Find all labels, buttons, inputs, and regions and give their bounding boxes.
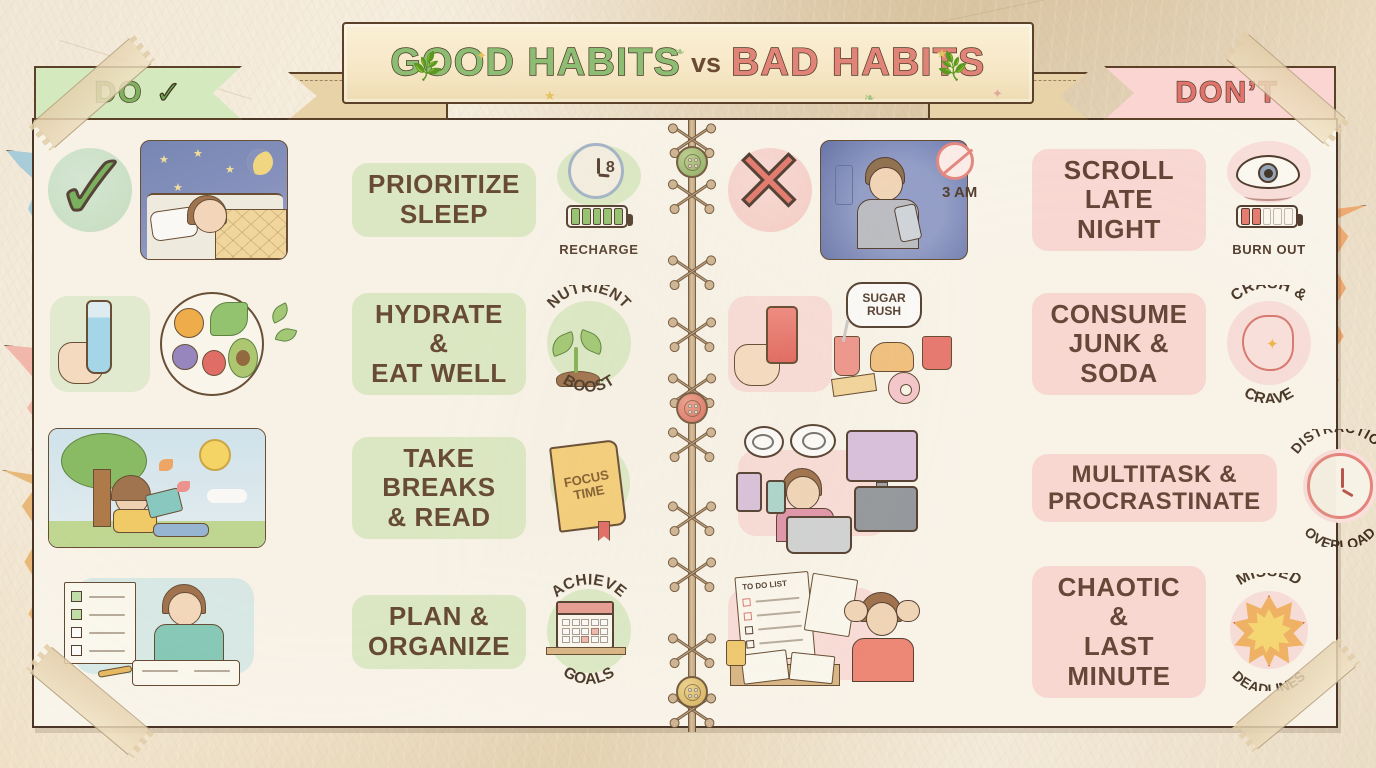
label-plan-organize: PLAN & ORGANIZE [348, 595, 530, 668]
illustration-chaotic-desk: TO DO LIST [724, 568, 1024, 696]
phone-icon [766, 480, 786, 514]
good-row-breaks: TAKE BREAKS & READ FOCUS TIME [44, 416, 644, 560]
cross-mark-icon: ✕ [732, 138, 806, 226]
checklist-note [64, 582, 136, 664]
badge-recharge: 8 RECHARGE [544, 141, 654, 259]
label-scroll-late-night: SCROLL LATE NIGHT [1028, 149, 1210, 252]
label-chaotic-last-minute: CHAOTIC & LAST MINUTE [1028, 566, 1210, 699]
bad-habits-column: ✕ 3 AM SCROLL L [724, 128, 1324, 704]
check-mark-icon: ✓ [156, 75, 182, 111]
divider-button-green [676, 146, 708, 178]
book-icon: FOCUS TIME [549, 439, 627, 533]
label-line-2: ORGANIZE [368, 631, 510, 661]
illustration-multitask [724, 424, 1024, 552]
badge-crash-crave: ✦ CRASH & CRAVE [1214, 285, 1324, 403]
sparkle-icon: ✦ [476, 48, 487, 64]
illustration-junk-food: SUGAR RUSH [724, 280, 1024, 408]
label-prioritize-sleep: PRIORITIZE SLEEP [348, 163, 540, 236]
label-line-1: PLAN & [389, 601, 489, 631]
check-mark-icon: ✓ [54, 142, 131, 234]
star-icon: ★ [544, 88, 556, 104]
bubble-line-1: SUGAR [862, 291, 905, 305]
scene-note-3am: 3 AM [942, 184, 977, 201]
battery-full-icon [566, 205, 628, 228]
good-row-plan: PLAN & ORGANIZE [44, 560, 644, 704]
badge-caption-burn-out: BURN OUT [1214, 242, 1324, 257]
label-line-2: & READ [387, 502, 490, 532]
badge-burn-out: BURN OUT [1214, 141, 1324, 259]
plate-of-food [160, 292, 264, 396]
star-icon: ★ [936, 46, 948, 62]
leaf-icon: ❧ [864, 90, 875, 106]
label-line-2: PROCRASTINATE [1048, 488, 1261, 515]
svg-text:MISSED: MISSED [1234, 573, 1305, 589]
divider-button-red [676, 392, 708, 424]
bad-row-chaotic: TO DO LIST [724, 560, 1324, 704]
second-monitor-icon [854, 486, 918, 532]
label-hydrate-eat-well: HYDRATE & EAT WELL [348, 293, 530, 396]
ribbon-body: GOOD HABITS vs BAD HABITS 🌿 🌿 ✦ ★ ❧ ❧ ★ … [342, 22, 1034, 104]
badge-nutrient-boost: NUTRIENT BOOST [534, 285, 644, 403]
label-line-2: SLEEP [400, 199, 488, 229]
label-line-1: PRIORITIZE [368, 169, 520, 199]
label-take-breaks-read: TAKE BREAKS & READ [348, 437, 530, 540]
label-consume-junk-soda: CONSUME JUNK & SODA [1028, 293, 1210, 396]
label-line-1: TAKE BREAKS [382, 443, 495, 503]
good-row-sleep: ✓ ★ ★ ★ ★ P [44, 128, 644, 272]
badge-focus-time: FOCUS TIME [534, 429, 644, 547]
monitor-icon [846, 430, 918, 482]
svg-text:OVERLOAD: OVERLOAD [1301, 524, 1376, 547]
label-line-1: MULTITASK & [1072, 461, 1238, 488]
label-multitask-procrastinate: MULTITASK & PROCRASTINATE [1028, 454, 1281, 523]
no-phone-clock-icon [936, 142, 974, 180]
illustration-scroll-late-night: ✕ 3 AM [724, 136, 1024, 264]
scene-girl-sleeping: ★ ★ ★ ★ [140, 140, 288, 260]
leaf-icon: ❧ [674, 44, 685, 60]
label-line-2: LAST MINUTE [1067, 631, 1170, 691]
divider-cord [688, 120, 696, 732]
label-line-2: JUNK & SODA [1069, 328, 1169, 388]
illustration-hydrate [44, 280, 344, 408]
svg-text:CRAVE: CRAVE [1241, 384, 1297, 403]
label-line-2: EAT WELL [371, 358, 507, 388]
illustration-reading [44, 424, 344, 552]
badge-achieve-goals: ACHIEVE GOALS [534, 573, 644, 691]
alarm-clock-icon [1307, 453, 1373, 519]
illustration-planning [44, 568, 344, 696]
title-ribbon: GOOD HABITS vs BAD HABITS 🌿 🌿 ✦ ★ ❧ ❧ ★ … [288, 14, 1088, 110]
badge-caption-recharge: RECHARGE [544, 242, 654, 257]
battery-low-icon [1236, 205, 1298, 228]
clock-icon [568, 143, 624, 199]
calendar-icon [556, 601, 614, 649]
badge-distraction-overload: DISTRACTION OVERLOAD [1285, 429, 1376, 547]
label-line-2: LATE NIGHT [1077, 184, 1161, 244]
bubble-line-2: RUSH [867, 304, 901, 318]
bad-row-scroll: ✕ 3 AM SCROLL L [724, 128, 1324, 272]
bad-row-junk: SUGAR RUSH CONSUME JUNK & SODA [724, 272, 1324, 416]
sparkle-icon: ✦ [992, 86, 1003, 102]
label-line-1: SCROLL [1064, 155, 1174, 185]
poster-canvas: ✓ ★ ★ ★ ★ P [0, 0, 1376, 768]
tablet-icon [736, 472, 762, 512]
clock-number: 8 [606, 159, 615, 177]
to-do-list-title: TO DO LIST [742, 579, 787, 592]
title-vs: vs [691, 48, 721, 79]
main-poster-card: ✓ ★ ★ ★ ★ P [32, 118, 1338, 728]
center-divider [662, 120, 722, 732]
to-do-list-note: TO DO LIST [734, 571, 815, 663]
speech-bubble-sugar-rush: SUGAR RUSH [846, 282, 922, 328]
label-line-1: HYDRATE & [375, 299, 503, 359]
bad-row-multitask: MULTITASK & PROCRASTINATE DISTRACTION O [724, 416, 1324, 560]
illustration-sleep: ✓ ★ ★ ★ ★ [44, 136, 344, 264]
good-habits-column: ✓ ★ ★ ★ ★ P [44, 128, 644, 704]
label-line-1: CONSUME [1050, 299, 1187, 329]
label-line-1: CHAOTIC & [1058, 572, 1181, 632]
scene-reading-under-tree [48, 428, 266, 548]
divider-button-yellow [676, 676, 708, 708]
good-row-hydrate: HYDRATE & EAT WELL NUTRIENT BOOST [44, 272, 644, 416]
